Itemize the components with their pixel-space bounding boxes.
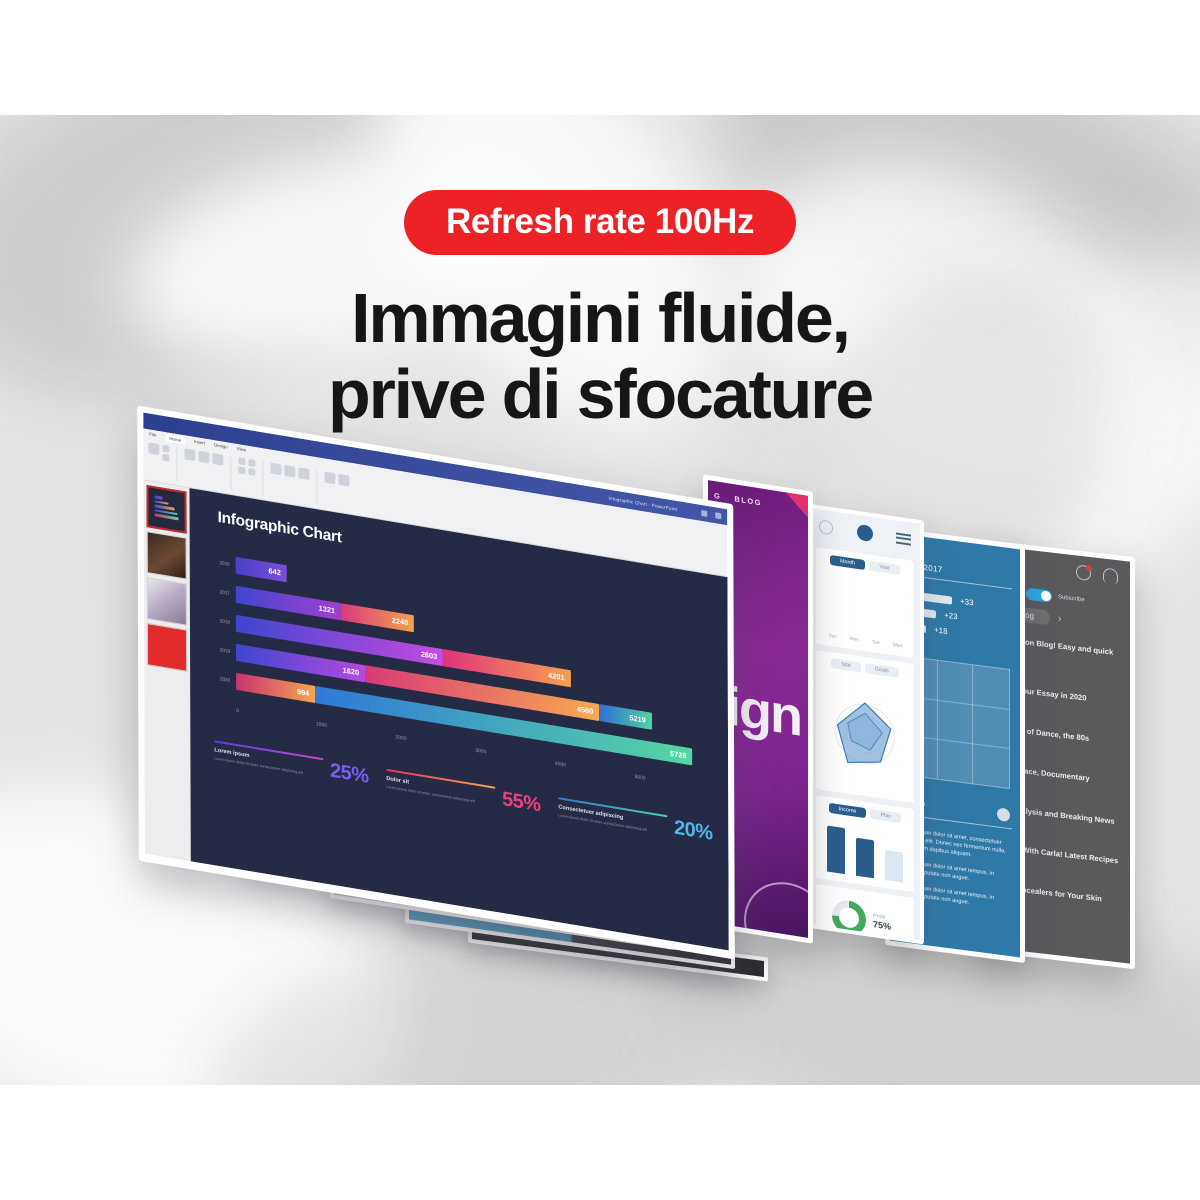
maximize-button[interactable] xyxy=(715,512,721,519)
footer-dot-icon xyxy=(997,807,1010,822)
mobile-income-bar xyxy=(827,826,845,875)
shapes-icon[interactable] xyxy=(270,463,281,476)
promo-stage: Refresh rate 100Hz Immagini fluide, priv… xyxy=(0,0,1200,1200)
stat-percent: 25% xyxy=(330,759,368,788)
window-cascade: Subscribe Blog › Blogging on Blog! Easy … xyxy=(0,0,1200,1200)
quick-styles-icon[interactable] xyxy=(298,467,309,480)
mobile-bar-label: Mon xyxy=(850,636,859,642)
profit-value: 75% xyxy=(873,919,891,932)
headline-block: Refresh rate 100Hz Immagini fluide, priv… xyxy=(0,190,1200,432)
arrange-icon[interactable] xyxy=(284,465,295,478)
mobile-dashboard-window[interactable]: MonthYear SunMonTueWed StatGoals xyxy=(806,503,924,944)
chart-bar-segment: 2240 xyxy=(341,603,414,632)
chart-category-label: 2019 xyxy=(206,644,236,654)
menu-icon[interactable] xyxy=(896,532,911,545)
ribbon-tab-file[interactable]: File xyxy=(149,432,156,440)
mobile-bar-column: Sun xyxy=(825,629,841,639)
mobile-bar-column: Tue xyxy=(868,635,884,645)
chart-category-label: 2016 xyxy=(206,557,236,567)
stat-block: Dolor sitLorem ipsum dolor sit amet, con… xyxy=(386,769,540,818)
mobile-profit-card: Profit 75% xyxy=(816,884,914,940)
mobile-bar-label: Tue xyxy=(872,639,880,645)
search-icon[interactable] xyxy=(819,519,833,535)
stat-percent: 55% xyxy=(502,788,540,817)
analytics-stat-value: +18 xyxy=(934,625,948,636)
stat-block: Consectetuer adipiscingLorem ipsum dolor… xyxy=(558,797,712,846)
ribbon-tab-view[interactable]: View xyxy=(237,446,246,455)
slide-thumbnail-3[interactable] xyxy=(147,577,187,626)
bell-icon[interactable] xyxy=(1103,567,1118,584)
mobile-tab[interactable]: Goals xyxy=(865,663,899,678)
chart-category-label: 2017 xyxy=(206,586,236,596)
nav-item-blog[interactable]: BLOG xyxy=(734,494,762,507)
mobile-bar-label: Wed xyxy=(893,642,902,648)
mobile-tab[interactable]: Month xyxy=(830,555,865,570)
chart-bar-segment: 5219 xyxy=(599,704,652,730)
mobile-tab[interactable]: Plan xyxy=(870,809,901,823)
headline-line-1: Immagini fluide, xyxy=(351,279,849,357)
bold-icon[interactable] xyxy=(238,457,245,465)
mobile-bar-chart: SunMonTueWed xyxy=(822,571,908,649)
mobile-income-bar xyxy=(885,850,903,883)
mobile-bar-label: Sun xyxy=(829,633,837,639)
replace-icon[interactable] xyxy=(338,474,349,487)
headline-line-2: prive di sfocature xyxy=(0,357,1200,433)
mobile-income-card: IncomePlan xyxy=(816,795,914,892)
refresh-rate-badge: Refresh rate 100Hz xyxy=(404,190,796,255)
chart-bar-segment: 994 xyxy=(236,672,315,702)
avatar[interactable] xyxy=(857,524,873,542)
mobile-bar xyxy=(851,633,857,634)
italic-icon[interactable] xyxy=(238,466,245,474)
mobile-tab[interactable]: Year xyxy=(869,561,900,575)
mobile-income-chart xyxy=(822,819,908,883)
mobile-bar-column: Mon xyxy=(846,632,862,642)
new-slide-icon[interactable] xyxy=(184,448,195,461)
ribbon-group-editing[interactable] xyxy=(324,472,349,510)
stat-block: Lorem ipsumLorem ipsum dolor sit amet, c… xyxy=(214,740,368,789)
underline-icon[interactable] xyxy=(248,459,255,467)
mobile-bar xyxy=(873,636,879,637)
corner-accent xyxy=(786,492,808,517)
chart-title: Infographic Chart xyxy=(218,509,342,548)
mobile-tab[interactable]: Income xyxy=(829,803,867,818)
ribbon-group-drawing[interactable] xyxy=(270,463,309,503)
message-icon[interactable] xyxy=(1076,564,1091,581)
slide-thumbnail-4[interactable] xyxy=(147,623,187,672)
mobile-tab[interactable]: Stat xyxy=(831,658,861,672)
profit-donut-chart xyxy=(832,898,866,937)
copy-icon[interactable] xyxy=(162,454,169,462)
ribbon-group-clipboard[interactable] xyxy=(148,442,169,479)
font-color-icon[interactable] xyxy=(248,468,255,476)
radar-svg xyxy=(822,674,908,794)
chart-bar-segment: 642 xyxy=(236,556,287,581)
stat-percent: 20% xyxy=(674,816,712,845)
cut-icon[interactable] xyxy=(162,445,169,453)
paste-icon[interactable] xyxy=(148,442,159,455)
slide-thumbnail-2[interactable] xyxy=(147,531,187,580)
minimize-button[interactable] xyxy=(701,510,707,517)
nav-item-partial[interactable]: G xyxy=(714,491,721,501)
reset-icon[interactable] xyxy=(212,453,223,466)
ribbon-group-font[interactable] xyxy=(238,457,255,494)
subscribe-label: Subscribe xyxy=(1058,594,1085,603)
slide-thumbnail-panel[interactable] xyxy=(143,481,190,862)
mobile-bar xyxy=(830,630,836,631)
mobile-bar xyxy=(894,639,900,640)
chart-category-label: 2018 xyxy=(206,615,236,625)
mobile-bar-column: Wed xyxy=(889,638,905,648)
analytics-stat-value: +23 xyxy=(944,611,958,622)
mobile-income-bar xyxy=(856,838,874,879)
find-icon[interactable] xyxy=(324,472,335,485)
chevron-right-icon[interactable]: › xyxy=(1058,613,1061,624)
mobile-radar-card: StatGoals xyxy=(816,650,914,803)
subscribe-toggle[interactable] xyxy=(1026,588,1052,603)
page-title: Immagini fluide, prive di sfocature xyxy=(0,281,1200,432)
mobile-bar-card: MonthYear SunMonTueWed xyxy=(816,547,914,658)
analytics-stat-value: +33 xyxy=(960,597,974,608)
decorative-circle xyxy=(744,876,808,938)
layout-icon[interactable] xyxy=(198,451,209,464)
slide-thumbnail-1[interactable] xyxy=(146,485,186,534)
presentation-window[interactable]: Infographic Chart - PowerPoint FileHomeI… xyxy=(137,406,735,960)
notification-dot xyxy=(1086,564,1092,571)
radar-chart xyxy=(822,674,908,794)
chart-category-label: 2020 xyxy=(206,673,236,683)
ribbon-group-slides[interactable] xyxy=(184,448,223,488)
